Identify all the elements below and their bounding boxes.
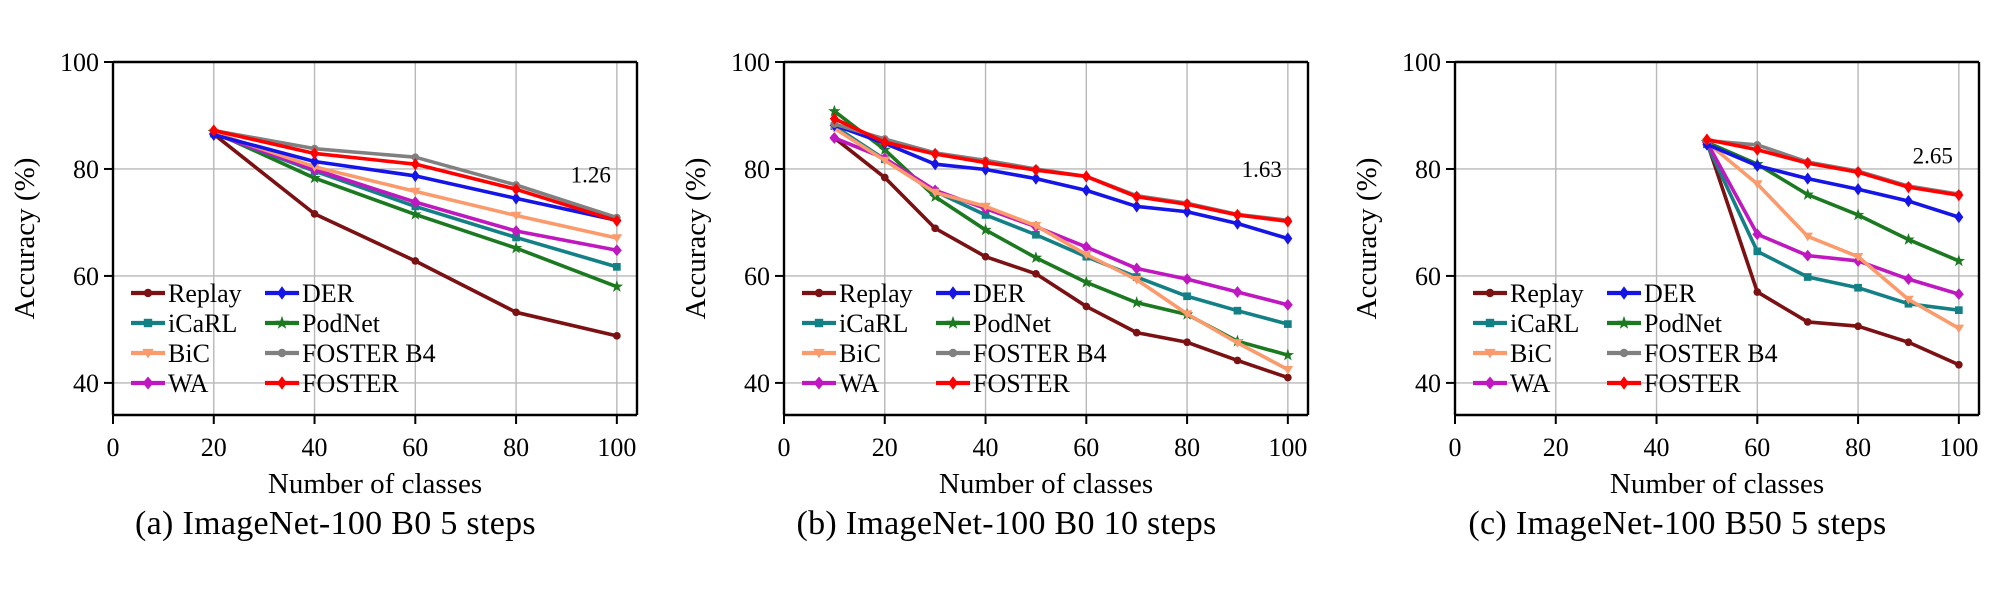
legend-item-wa: WA bbox=[131, 369, 209, 398]
legend-item-podnet: PodNet bbox=[1607, 309, 1723, 338]
x-tick-label: 60 bbox=[402, 433, 428, 462]
legend-item-podnet: PodNet bbox=[936, 309, 1052, 338]
data-point bbox=[1803, 250, 1813, 262]
data-point bbox=[1283, 215, 1292, 227]
legend-item-der: DER bbox=[1607, 279, 1697, 308]
data-point bbox=[1905, 338, 1913, 346]
legend-marker bbox=[277, 376, 287, 390]
data-point bbox=[1904, 273, 1914, 285]
legend-marker bbox=[1486, 289, 1494, 297]
data-point bbox=[1955, 306, 1963, 314]
legend-label: Replay bbox=[168, 279, 242, 308]
data-point bbox=[1854, 183, 1863, 195]
legend-label: DER bbox=[302, 279, 355, 308]
legend-item-der: DER bbox=[265, 279, 355, 308]
legend-marker bbox=[948, 376, 958, 390]
legend-label: PodNet bbox=[1644, 309, 1723, 338]
data-point bbox=[1284, 374, 1292, 382]
data-point bbox=[1183, 292, 1191, 300]
x-tick-label: 40 bbox=[973, 433, 999, 462]
data-point bbox=[1904, 195, 1913, 207]
legend-label: BiC bbox=[839, 339, 881, 368]
data-point bbox=[613, 332, 621, 340]
legend-marker bbox=[1619, 376, 1629, 390]
legend-item-bic: BiC bbox=[1473, 339, 1552, 368]
legend-marker bbox=[275, 316, 289, 329]
data-point bbox=[1283, 366, 1294, 375]
x-tick-label: 0 bbox=[107, 433, 120, 462]
chart-panel-a: 406080100020406080100Accuracy (%)Number … bbox=[0, 0, 671, 610]
x-axis-title: Number of classes bbox=[268, 468, 482, 500]
legend: ReplayiCaRLBiCWADERPodNetFOSTER B4FOSTER bbox=[802, 279, 1107, 398]
legend-marker bbox=[1619, 286, 1629, 300]
data-point bbox=[1283, 232, 1292, 244]
legend-item-der: DER bbox=[936, 279, 1026, 308]
legend-item-bic: BiC bbox=[131, 339, 210, 368]
legend-marker bbox=[1485, 377, 1496, 390]
y-tick-label: 80 bbox=[744, 155, 770, 184]
data-point bbox=[1133, 329, 1141, 337]
data-point bbox=[1233, 209, 1242, 221]
tick-marks: 406080100020406080100 bbox=[60, 48, 636, 462]
y-tick-label: 100 bbox=[1402, 48, 1441, 77]
y-tick-label: 80 bbox=[73, 155, 99, 184]
data-point bbox=[311, 210, 319, 218]
data-point bbox=[1954, 211, 1963, 223]
data-point bbox=[1082, 303, 1090, 311]
y-tick-label: 100 bbox=[60, 48, 99, 77]
y-tick-label: 40 bbox=[1415, 369, 1441, 398]
legend-marker bbox=[1620, 349, 1628, 357]
x-tick-label: 100 bbox=[1939, 433, 1978, 462]
legend-item-icarl: iCaRL bbox=[131, 309, 237, 338]
legend-marker bbox=[143, 377, 154, 390]
legend-label: DER bbox=[1644, 279, 1697, 308]
data-point bbox=[1234, 307, 1242, 315]
legend-label: iCaRL bbox=[1510, 309, 1579, 338]
x-tick-label: 0 bbox=[778, 433, 791, 462]
data-point bbox=[1804, 273, 1812, 281]
tick-marks: 406080100020406080100 bbox=[1402, 48, 1978, 462]
legend-marker bbox=[1486, 319, 1494, 327]
legend-marker bbox=[144, 319, 152, 327]
panel-caption-b: (b) ImageNet-100 B0 10 steps bbox=[671, 505, 1342, 543]
legend-item-foster-b4: FOSTER B4 bbox=[1607, 339, 1778, 368]
gain-annotation: 2.65 bbox=[1913, 144, 1953, 169]
legend: ReplayiCaRLBiCWADERPodNetFOSTER B4FOSTER bbox=[131, 279, 436, 398]
legend-marker bbox=[946, 316, 960, 329]
figure-root: 406080100020406080100Accuracy (%)Number … bbox=[0, 0, 2013, 610]
data-point bbox=[1183, 198, 1192, 210]
legend-label: BiC bbox=[1510, 339, 1552, 368]
tick-marks: 406080100020406080100 bbox=[731, 48, 1307, 462]
data-point bbox=[512, 308, 520, 316]
legend-item-foster: FOSTER bbox=[936, 369, 1070, 398]
data-point bbox=[1803, 157, 1812, 169]
x-axis-title: Number of classes bbox=[1610, 468, 1824, 500]
y-tick-label: 40 bbox=[73, 369, 99, 398]
panel-caption-a: (a) ImageNet-100 B0 5 steps bbox=[0, 505, 671, 543]
data-point bbox=[411, 170, 420, 182]
data-point bbox=[881, 174, 889, 182]
data-point bbox=[1804, 318, 1812, 326]
data-point bbox=[1854, 284, 1862, 292]
legend-label: iCaRL bbox=[839, 309, 908, 338]
x-tick-label: 80 bbox=[1174, 433, 1200, 462]
legend: ReplayiCaRLBiCWADERPodNetFOSTER B4FOSTER bbox=[1473, 279, 1778, 398]
legend-label: DER bbox=[973, 279, 1026, 308]
legend-label: PodNet bbox=[973, 309, 1052, 338]
legend-item-foster: FOSTER bbox=[265, 369, 399, 398]
x-tick-label: 20 bbox=[872, 433, 898, 462]
legend-label: PodNet bbox=[302, 309, 381, 338]
chart-svg-b: 406080100020406080100Accuracy (%)Number … bbox=[671, 0, 1342, 505]
legend-label: WA bbox=[168, 369, 209, 398]
gain-annotation: 1.26 bbox=[571, 162, 611, 187]
data-point bbox=[1132, 191, 1141, 203]
legend-item-replay: Replay bbox=[802, 279, 913, 308]
x-tick-label: 100 bbox=[597, 433, 636, 462]
data-point bbox=[1131, 296, 1143, 308]
legend-label: WA bbox=[1510, 369, 1551, 398]
legend-marker bbox=[1617, 316, 1631, 329]
data-point bbox=[1182, 273, 1192, 285]
legend-marker bbox=[815, 289, 823, 297]
chart-panel-c: 406080100020406080100Accuracy (%)Number … bbox=[1342, 0, 2013, 610]
y-tick-label: 100 bbox=[731, 48, 770, 77]
data-point bbox=[1183, 338, 1191, 346]
x-tick-label: 20 bbox=[201, 433, 227, 462]
gain-annotation: 1.63 bbox=[1242, 157, 1282, 182]
legend-item-wa: WA bbox=[802, 369, 880, 398]
x-tick-label: 0 bbox=[1449, 433, 1462, 462]
legend-label: FOSTER bbox=[302, 369, 399, 398]
chart-panel-b: 406080100020406080100Accuracy (%)Number … bbox=[671, 0, 1342, 610]
data-point bbox=[1954, 189, 1963, 201]
data-point bbox=[1284, 320, 1292, 328]
legend-label: WA bbox=[839, 369, 880, 398]
legend-marker bbox=[815, 319, 823, 327]
chart-svg-a: 406080100020406080100Accuracy (%)Number … bbox=[0, 0, 671, 505]
data-point bbox=[1082, 170, 1091, 182]
legend-label: FOSTER B4 bbox=[302, 339, 436, 368]
x-tick-label: 40 bbox=[302, 433, 328, 462]
legend-marker bbox=[948, 286, 958, 300]
data-point bbox=[1904, 181, 1913, 193]
x-tick-label: 60 bbox=[1744, 433, 1770, 462]
x-tick-label: 80 bbox=[503, 433, 529, 462]
legend-item-replay: Replay bbox=[131, 279, 242, 308]
data-point bbox=[612, 244, 622, 256]
data-point bbox=[1753, 247, 1761, 255]
series-der bbox=[830, 119, 1292, 245]
chart-svg-c: 406080100020406080100Accuracy (%)Number … bbox=[1342, 0, 2013, 505]
y-axis-title: Accuracy (%) bbox=[1351, 158, 1383, 320]
legend-item-icarl: iCaRL bbox=[1473, 309, 1579, 338]
legend-label: iCaRL bbox=[168, 309, 237, 338]
data-point bbox=[1283, 299, 1293, 311]
legend-item-foster-b4: FOSTER B4 bbox=[936, 339, 1107, 368]
y-tick-label: 80 bbox=[1415, 155, 1441, 184]
y-axis-title: Accuracy (%) bbox=[680, 158, 712, 320]
y-tick-label: 60 bbox=[1415, 262, 1441, 291]
legend-item-wa: WA bbox=[1473, 369, 1551, 398]
y-axis-title: Accuracy (%) bbox=[9, 158, 41, 320]
data-point bbox=[931, 148, 940, 160]
data-point bbox=[1132, 263, 1142, 275]
data-point bbox=[1803, 172, 1812, 184]
panel-caption-c: (c) ImageNet-100 B50 5 steps bbox=[1342, 505, 2013, 543]
legend-label: FOSTER B4 bbox=[973, 339, 1107, 368]
x-tick-label: 60 bbox=[1073, 433, 1099, 462]
legend-item-foster-b4: FOSTER B4 bbox=[265, 339, 436, 368]
y-tick-label: 60 bbox=[744, 262, 770, 291]
data-point bbox=[931, 224, 939, 232]
legend-label: Replay bbox=[1510, 279, 1584, 308]
data-point bbox=[1234, 357, 1242, 365]
data-point bbox=[411, 257, 419, 265]
legend-marker bbox=[277, 286, 287, 300]
legend-item-foster: FOSTER bbox=[1607, 369, 1741, 398]
data-point bbox=[1753, 288, 1761, 296]
x-tick-label: 80 bbox=[1845, 433, 1871, 462]
data-point bbox=[1032, 270, 1040, 278]
legend-marker bbox=[814, 377, 825, 390]
legend-item-podnet: PodNet bbox=[265, 309, 381, 338]
data-point bbox=[1031, 164, 1040, 176]
legend-marker bbox=[278, 349, 286, 357]
data-point bbox=[982, 253, 990, 261]
data-point bbox=[1233, 286, 1243, 298]
legend-label: FOSTER B4 bbox=[1644, 339, 1778, 368]
data-point bbox=[1955, 361, 1963, 369]
x-tick-label: 20 bbox=[1543, 433, 1569, 462]
legend-marker bbox=[144, 289, 152, 297]
x-tick-label: 100 bbox=[1268, 433, 1307, 462]
legend-label: Replay bbox=[839, 279, 913, 308]
x-tick-label: 40 bbox=[1644, 433, 1670, 462]
data-point bbox=[1854, 166, 1863, 178]
data-point bbox=[1854, 322, 1862, 330]
legend-item-replay: Replay bbox=[1473, 279, 1584, 308]
y-tick-label: 40 bbox=[744, 369, 770, 398]
legend-label: FOSTER bbox=[1644, 369, 1741, 398]
data-point bbox=[1954, 325, 1965, 334]
legend-marker bbox=[949, 349, 957, 357]
data-point bbox=[1082, 184, 1091, 196]
y-tick-label: 60 bbox=[73, 262, 99, 291]
legend-item-bic: BiC bbox=[802, 339, 881, 368]
legend-label: FOSTER bbox=[973, 369, 1070, 398]
legend-label: BiC bbox=[168, 339, 210, 368]
data-point bbox=[1954, 288, 1964, 300]
data-point bbox=[613, 263, 621, 271]
x-axis-title: Number of classes bbox=[939, 468, 1153, 500]
legend-item-icarl: iCaRL bbox=[802, 309, 908, 338]
